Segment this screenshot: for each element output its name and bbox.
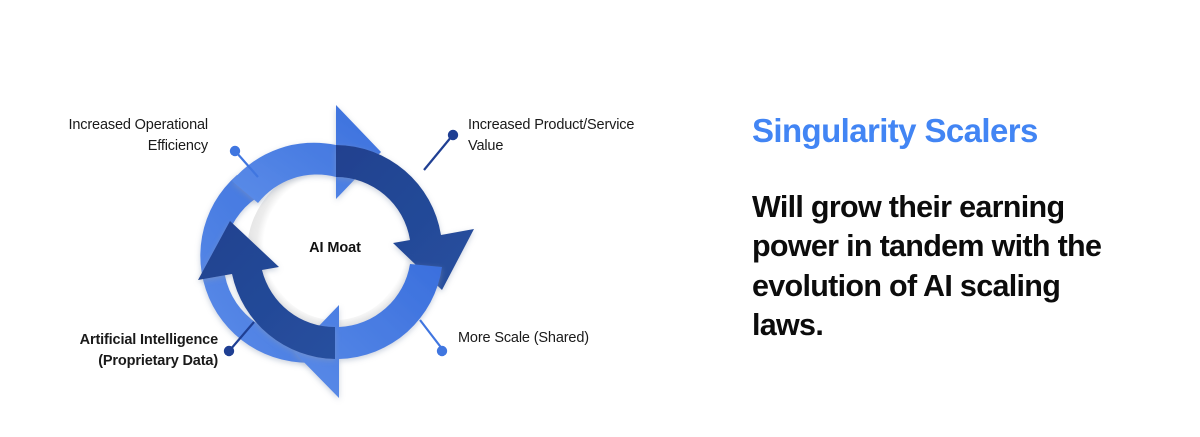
cycle-diagram-svg bbox=[0, 0, 700, 437]
panel-heading: Singularity Scalers bbox=[752, 113, 1038, 149]
cycle-center-label: AI Moat bbox=[265, 240, 405, 256]
text-panel: Singularity Scalers Will grow their earn… bbox=[752, 0, 1172, 437]
slide-canvas: AI Moat Increased Operational Efficiency… bbox=[0, 0, 1200, 437]
cycle-node-label-artificial-intelligence[interactable]: Artificial Intelligence (Proprietary Dat… bbox=[20, 330, 218, 371]
panel-body-text: Will grow their earning power in tandem … bbox=[752, 188, 1124, 345]
cycle-node-label-product-value[interactable]: Increased Product/Service Value bbox=[468, 115, 678, 156]
connector-product-value bbox=[424, 130, 458, 170]
cycle-node-label-operational-efficiency[interactable]: Increased Operational Efficiency bbox=[18, 115, 208, 156]
cycle-diagram: AI Moat Increased Operational Efficiency… bbox=[0, 0, 700, 437]
cycle-node-label-more-scale[interactable]: More Scale (Shared) bbox=[458, 328, 668, 349]
connector-more-scale bbox=[420, 320, 447, 356]
